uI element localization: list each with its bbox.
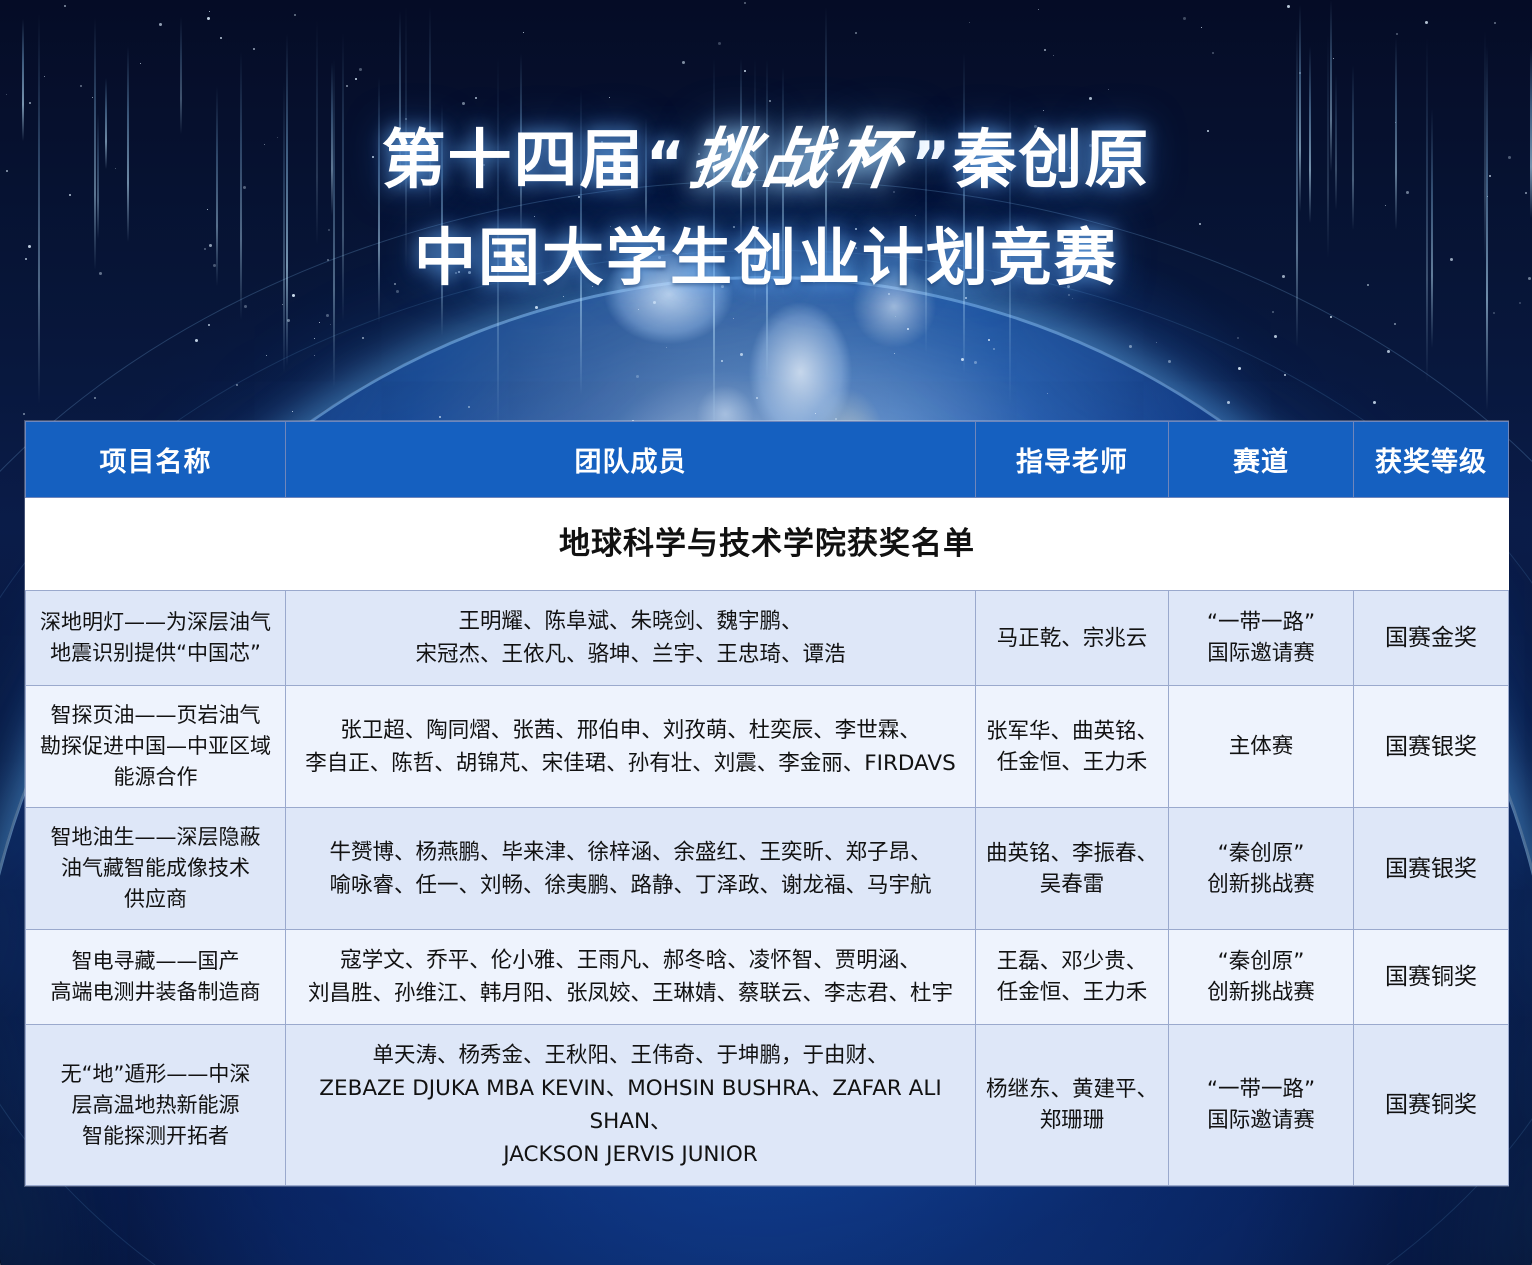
quote-open: “ xyxy=(646,129,687,199)
poster-background: 第十四届“挑战杯”秦创原 中国大学生创业计划竞赛 地球科学与技术学院获奖名单 项… xyxy=(0,0,1532,1265)
cell-grade: 国赛银奖 xyxy=(1354,686,1509,808)
quote-close: ” xyxy=(911,129,952,199)
table-body: 深地明灯——为深层油气地震识别提供“中国芯”王明耀、陈阜斌、朱晓剑、魏宇鹏、宋冠… xyxy=(26,591,1509,1186)
headline-line-1: 第十四届“挑战杯”秦创原 xyxy=(0,118,1532,206)
award-table-container: 地球科学与技术学院获奖名单 项目名称 团队成员 指导老师 赛道 获奖等级 深地明… xyxy=(25,421,1508,1186)
table-title: 地球科学与技术学院获奖名单 xyxy=(26,498,1509,591)
cell-track: “一带一路”国际邀请赛 xyxy=(1169,591,1354,686)
column-header-track: 赛道 xyxy=(1169,422,1354,498)
headline-line-2: 中国大学生创业计划竞赛 xyxy=(0,218,1532,298)
cell-project: 智电寻藏——国产高端电测井装备制造商 xyxy=(26,930,286,1025)
table-row: 无“地”遁形——中深层高温地热新能源智能探测开拓者单天涛、杨秀金、王秋阳、王伟奇… xyxy=(26,1025,1509,1186)
cell-members: 牛赟博、杨燕鹏、毕来津、徐梓涵、余盛红、王奕昕、郑子昂、喻咏睿、任一、刘畅、徐夷… xyxy=(286,808,976,930)
headline-cup-word: 挑战杯 xyxy=(681,118,917,202)
cell-grade: 国赛金奖 xyxy=(1354,591,1509,686)
cell-project: 无“地”遁形——中深层高温地热新能源智能探测开拓者 xyxy=(26,1025,286,1186)
award-table: 地球科学与技术学院获奖名单 项目名称 团队成员 指导老师 赛道 获奖等级 深地明… xyxy=(25,421,1509,1186)
table-row: 深地明灯——为深层油气地震识别提供“中国芯”王明耀、陈阜斌、朱晓剑、魏宇鹏、宋冠… xyxy=(26,591,1509,686)
table-head: 项目名称 团队成员 指导老师 赛道 获奖等级 xyxy=(26,422,1509,498)
cell-members: 寇学文、乔平、伦小雅、王雨凡、郝冬晗、凌怀智、贾明涵、刘昌胜、孙维江、韩月阳、张… xyxy=(286,930,976,1025)
headline-suffix: 秦创原 xyxy=(952,124,1150,198)
column-header-grade: 获奖等级 xyxy=(1354,422,1509,498)
poster-headline: 第十四届“挑战杯”秦创原 中国大学生创业计划竞赛 xyxy=(0,118,1532,298)
cell-grade: 国赛铜奖 xyxy=(1354,1025,1509,1186)
cell-track: “秦创原”创新挑战赛 xyxy=(1169,930,1354,1025)
cell-teacher: 曲英铭、李振春、吴春雷 xyxy=(976,808,1169,930)
cell-project: 深地明灯——为深层油气地震识别提供“中国芯” xyxy=(26,591,286,686)
table-title-row: 地球科学与技术学院获奖名单 xyxy=(26,498,1509,591)
cell-teacher: 张军华、曲英铭、任金恒、王力禾 xyxy=(976,686,1169,808)
column-header-project: 项目名称 xyxy=(26,422,286,498)
cell-members: 单天涛、杨秀金、王秋阳、王伟奇、于坤鹏，于由财、ZEBAZE DJUKA MBA… xyxy=(286,1025,976,1186)
cell-project: 智探页油——页岩油气勘探促进中国—中亚区域能源合作 xyxy=(26,686,286,808)
cell-grade: 国赛铜奖 xyxy=(1354,930,1509,1025)
cell-project: 智地油生——深层隐蔽油气藏智能成像技术供应商 xyxy=(26,808,286,930)
cell-members: 张卫超、陶同熠、张茜、邢伯申、刘孜萌、杜奕辰、李世霖、李自正、陈哲、胡锦芃、宋佳… xyxy=(286,686,976,808)
cell-teacher: 王磊、邓少贵、任金恒、王力禾 xyxy=(976,930,1169,1025)
cell-track: “秦创原”创新挑战赛 xyxy=(1169,808,1354,930)
table-row: 智探页油——页岩油气勘探促进中国—中亚区域能源合作张卫超、陶同熠、张茜、邢伯申、… xyxy=(26,686,1509,808)
cell-teacher: 杨继东、黄建平、郑珊珊 xyxy=(976,1025,1169,1186)
cell-track: 主体赛 xyxy=(1169,686,1354,808)
cell-members: 王明耀、陈阜斌、朱晓剑、魏宇鹏、宋冠杰、王依凡、骆坤、兰宇、王忠琦、谭浩 xyxy=(286,591,976,686)
table-row: 智电寻藏——国产高端电测井装备制造商寇学文、乔平、伦小雅、王雨凡、郝冬晗、凌怀智… xyxy=(26,930,1509,1025)
cell-track: “一带一路”国际邀请赛 xyxy=(1169,1025,1354,1186)
column-header-members: 团队成员 xyxy=(286,422,976,498)
cell-grade: 国赛银奖 xyxy=(1354,808,1509,930)
headline-prefix: 第十四届 xyxy=(382,124,646,198)
column-header-teacher: 指导老师 xyxy=(976,422,1169,498)
table-header-row: 项目名称 团队成员 指导老师 赛道 获奖等级 xyxy=(26,422,1509,498)
cell-teacher: 马正乾、宗兆云 xyxy=(976,591,1169,686)
table-row: 智地油生——深层隐蔽油气藏智能成像技术供应商牛赟博、杨燕鹏、毕来津、徐梓涵、余盛… xyxy=(26,808,1509,930)
